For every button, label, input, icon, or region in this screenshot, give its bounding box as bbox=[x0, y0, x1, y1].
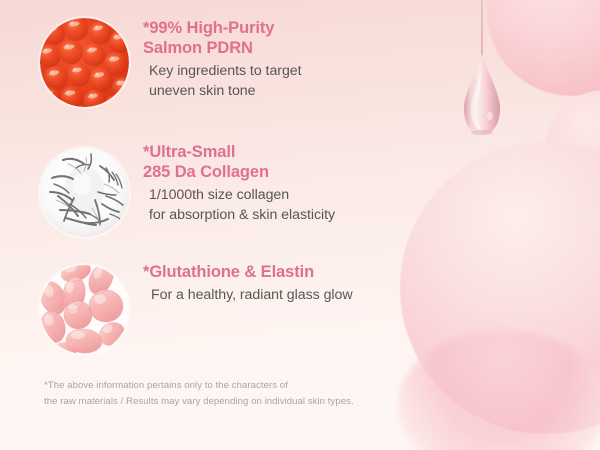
glutathione-capsules-circle-image bbox=[40, 265, 129, 354]
feature-heading: *99% High-Purity Salmon PDRN bbox=[143, 18, 573, 58]
ingredient-infographic-panel: *99% High-Purity Salmon PDRN Key ingredi… bbox=[0, 0, 600, 450]
feature-text-glutathione: *Glutathione & Elastin For a healthy, ra… bbox=[143, 262, 573, 305]
disclaimer-footnote: *The above information pertains only to … bbox=[44, 378, 514, 409]
feature-body: For a healthy, radiant glass glow bbox=[143, 285, 573, 305]
feature-body: Key ingredients to target uneven skin to… bbox=[143, 61, 573, 101]
feature-heading: *Glutathione & Elastin bbox=[143, 262, 573, 282]
collagen-fibers-circle-image bbox=[40, 148, 129, 237]
salmon-roe-circle-image bbox=[40, 18, 129, 107]
feature-heading: *Ultra-Small 285 Da Collagen bbox=[143, 142, 573, 182]
feature-text-collagen: *Ultra-Small 285 Da Collagen 1/1000th si… bbox=[143, 142, 573, 225]
feature-body: 1/1000th size collagen for absorption & … bbox=[143, 185, 573, 225]
feature-text-salmon-pdrn: *99% High-Purity Salmon PDRN Key ingredi… bbox=[143, 18, 573, 101]
